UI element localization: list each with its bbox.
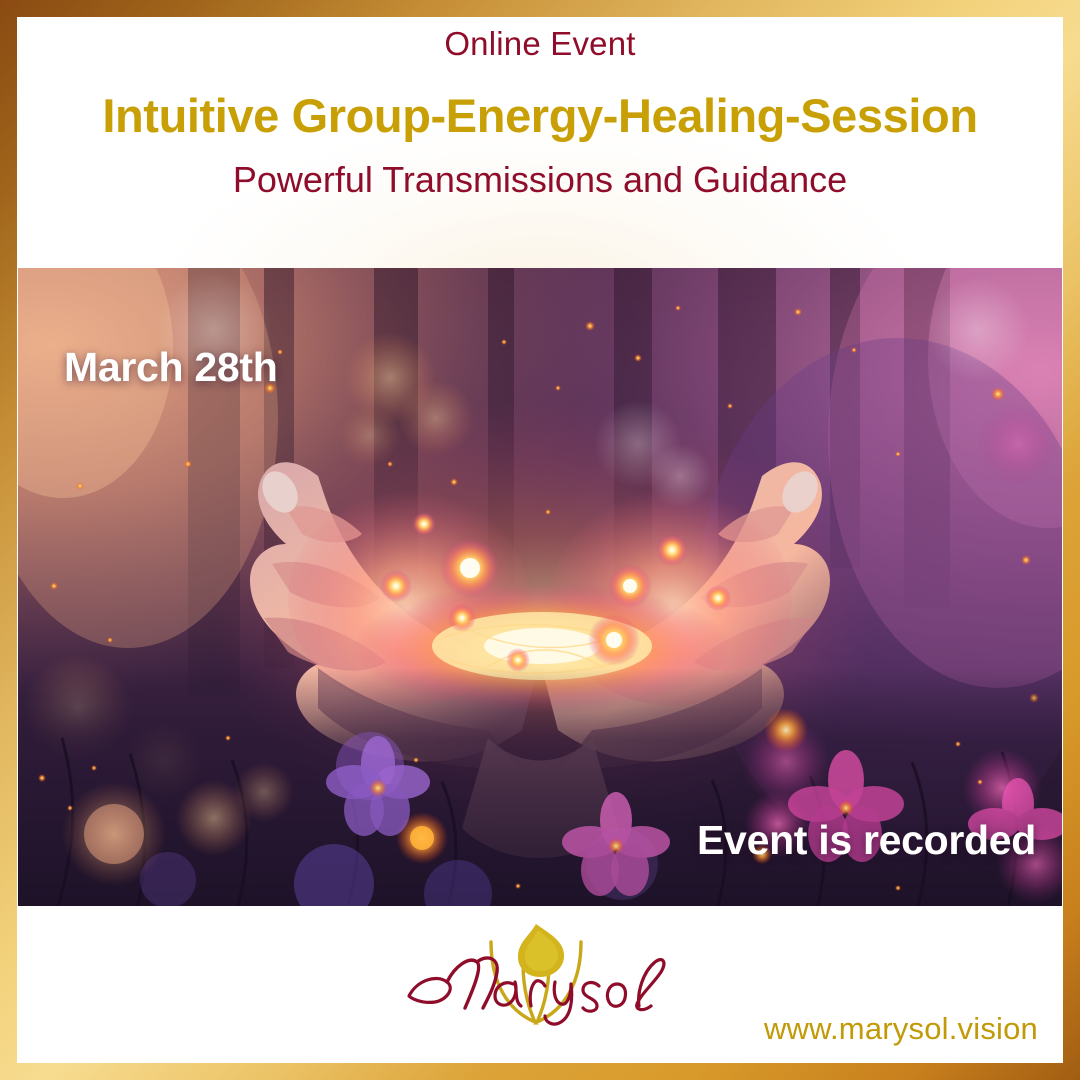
marysol-logo	[395, 918, 685, 1030]
page-title: Intuitive Group-Energy-Healing-Session	[0, 90, 1080, 143]
page-subtitle: Powerful Transmissions and Guidance	[0, 159, 1080, 200]
hero-image: March 28th Event is recorded	[18, 268, 1062, 906]
marysol-logo-artwork	[395, 918, 685, 1030]
footer-block: www.marysol.vision	[0, 906, 1080, 1063]
recording-notice-caption: Event is recorded	[697, 817, 1036, 864]
poster-content: Online Event Intuitive Group-Energy-Heal…	[0, 0, 1080, 1080]
header-block: Online Event Intuitive Group-Energy-Heal…	[0, 0, 1080, 200]
event-poster: Online Event Intuitive Group-Energy-Heal…	[0, 0, 1080, 1080]
event-date-caption: March 28th	[64, 344, 277, 391]
event-type-label: Online Event	[0, 26, 1080, 62]
website-url[interactable]: www.marysol.vision	[764, 1011, 1038, 1047]
